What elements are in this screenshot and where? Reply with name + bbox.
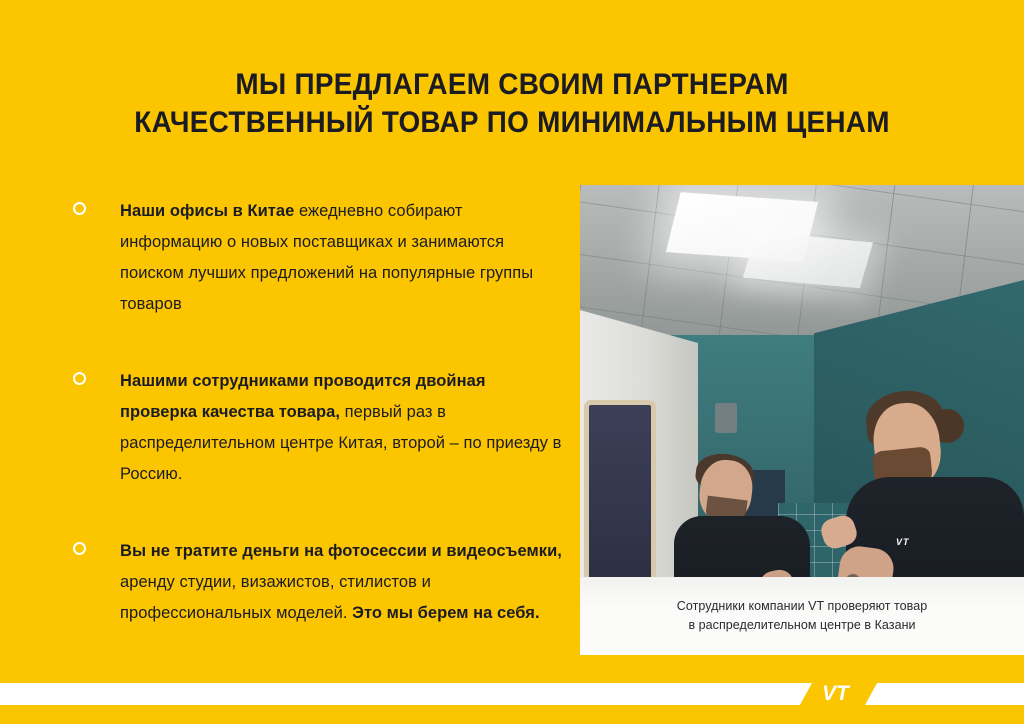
slide-root: МЫ ПРЕДЛАГАЕМ СВОИМ ПАРТНЕРАМ КАЧЕСТВЕНН…	[0, 0, 1024, 724]
wall-speaker-icon	[715, 403, 737, 433]
bullet-text: Наши офисы в Китае ежедневно собирают ин…	[120, 196, 564, 320]
caption-line-2: в распределительном центре в Казани	[677, 616, 927, 635]
bullet-lead-bold: Вы не тратите деньги на фотосессии и вид…	[120, 542, 562, 560]
bullet-list: Наши офисы в Китае ежедневно собирают ин…	[72, 196, 564, 629]
footer-stripe-left	[0, 683, 812, 705]
page-title: МЫ ПРЕДЛАГАЕМ СВОИМ ПАРТНЕРАМ КАЧЕСТВЕНН…	[36, 66, 988, 142]
photo-caption-text: Сотрудники компании VT проверяют товар в…	[677, 597, 927, 635]
ring-bullet-icon	[73, 372, 86, 385]
page-title-line-2: КАЧЕСТВЕННЫЙ ТОВАР ПО МИНИМАЛЬНЫМ ЦЕНАМ	[36, 104, 988, 142]
footer-stripe-right	[865, 683, 1024, 705]
list-item: Вы не тратите деньги на фотосессии и вид…	[72, 536, 564, 629]
caption-line-1: Сотрудники компании VT проверяют товар	[677, 597, 927, 616]
bullet-tail-bold: Это мы берем на себя.	[352, 604, 539, 622]
footer-brand-bar: VT	[0, 655, 1024, 724]
photo-scene: VT VT	[580, 185, 1024, 655]
list-item: Наши офисы в Китае ежедневно собирают ин…	[72, 196, 564, 320]
ring-bullet-icon	[73, 202, 86, 215]
shirt-logo-vt: VT	[896, 537, 930, 548]
vt-logo: VT	[822, 681, 849, 707]
bullet-text: Нашими сотрудниками проводится двойная п…	[120, 366, 564, 490]
warehouse-photo: VT VT	[580, 185, 1024, 655]
bullet-text: Вы не тратите деньги на фотосессии и вид…	[120, 536, 564, 629]
list-item: Нашими сотрудниками проводится двойная п…	[72, 366, 564, 490]
photo-caption: Сотрудники компании VT проверяют товар в…	[580, 577, 1024, 655]
bullet-lead-bold: Наши офисы в Китае	[120, 202, 294, 220]
page-title-line-1: МЫ ПРЕДЛАГАЕМ СВОИМ ПАРТНЕРАМ	[36, 66, 988, 104]
ring-bullet-icon	[73, 542, 86, 555]
